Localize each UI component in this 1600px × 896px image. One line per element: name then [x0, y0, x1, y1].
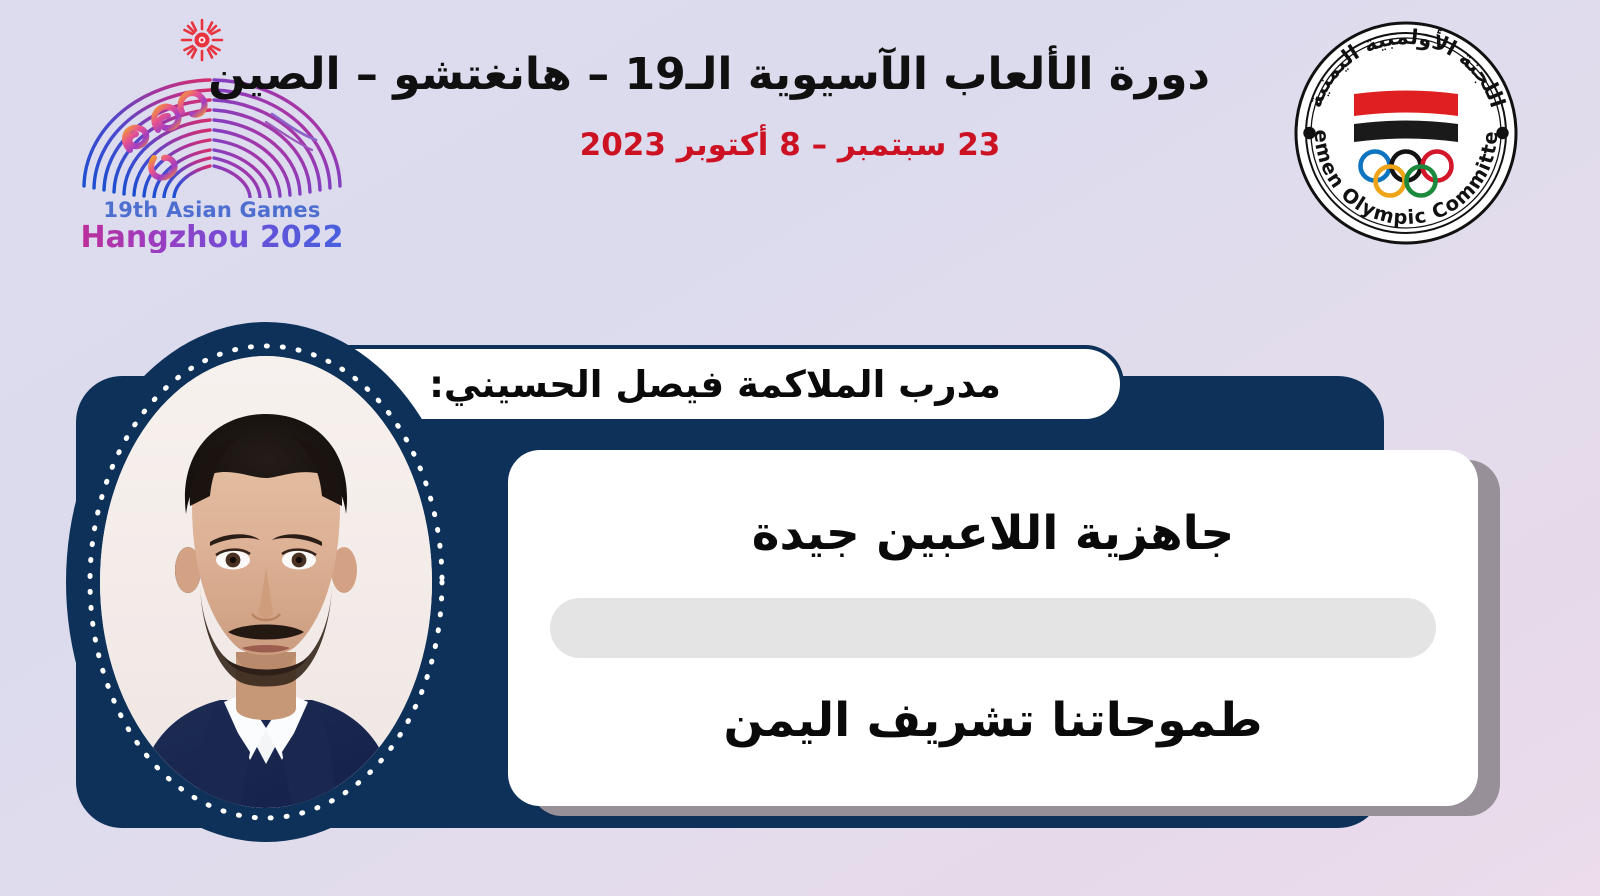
coach-portrait [66, 322, 466, 842]
asian-games-host-label: Hangzhou 2022 [62, 223, 362, 253]
asian-games-logo-text: 19th Asian Games Hangzhou 2022 [62, 200, 362, 253]
quotes-panel: جاهزية اللاعبين جيدة طموحاتنا تشريف اليم… [508, 450, 1478, 806]
coach-statement-card: جاهزية اللاعبين جيدة طموحاتنا تشريف اليم… [0, 300, 1600, 896]
event-title-block: دورة الألعاب الآسيوية الـ19 – هانغتشو – … [370, 50, 1210, 164]
page-title: دورة الألعاب الآسيوية الـ19 – هانغتشو – … [370, 50, 1210, 101]
quote-primary: جاهزية اللاعبين جيدة [546, 505, 1440, 564]
page-header: 19th Asian Games Hangzhou 2022 دورة الأل… [0, 0, 1600, 280]
coach-name-label: مدرب الملاكمة فيصل الحسيني: [429, 366, 1001, 403]
quote-secondary: طموحاتنا تشريف اليمن [546, 692, 1440, 751]
yemen-olympic-committee-emblem: اللجنة الأولمبية اليمنية Yemen Olympic C… [1287, 14, 1525, 252]
event-dates: 23 سبتمبر – 8 أكتوبر 2023 [370, 127, 1210, 164]
asian-games-edition-label: 19th Asian Games [62, 200, 362, 221]
coach-portrait-photo [100, 356, 432, 808]
asian-games-logo: 19th Asian Games Hangzhou 2022 [62, 8, 362, 270]
divider-bar [550, 598, 1436, 658]
